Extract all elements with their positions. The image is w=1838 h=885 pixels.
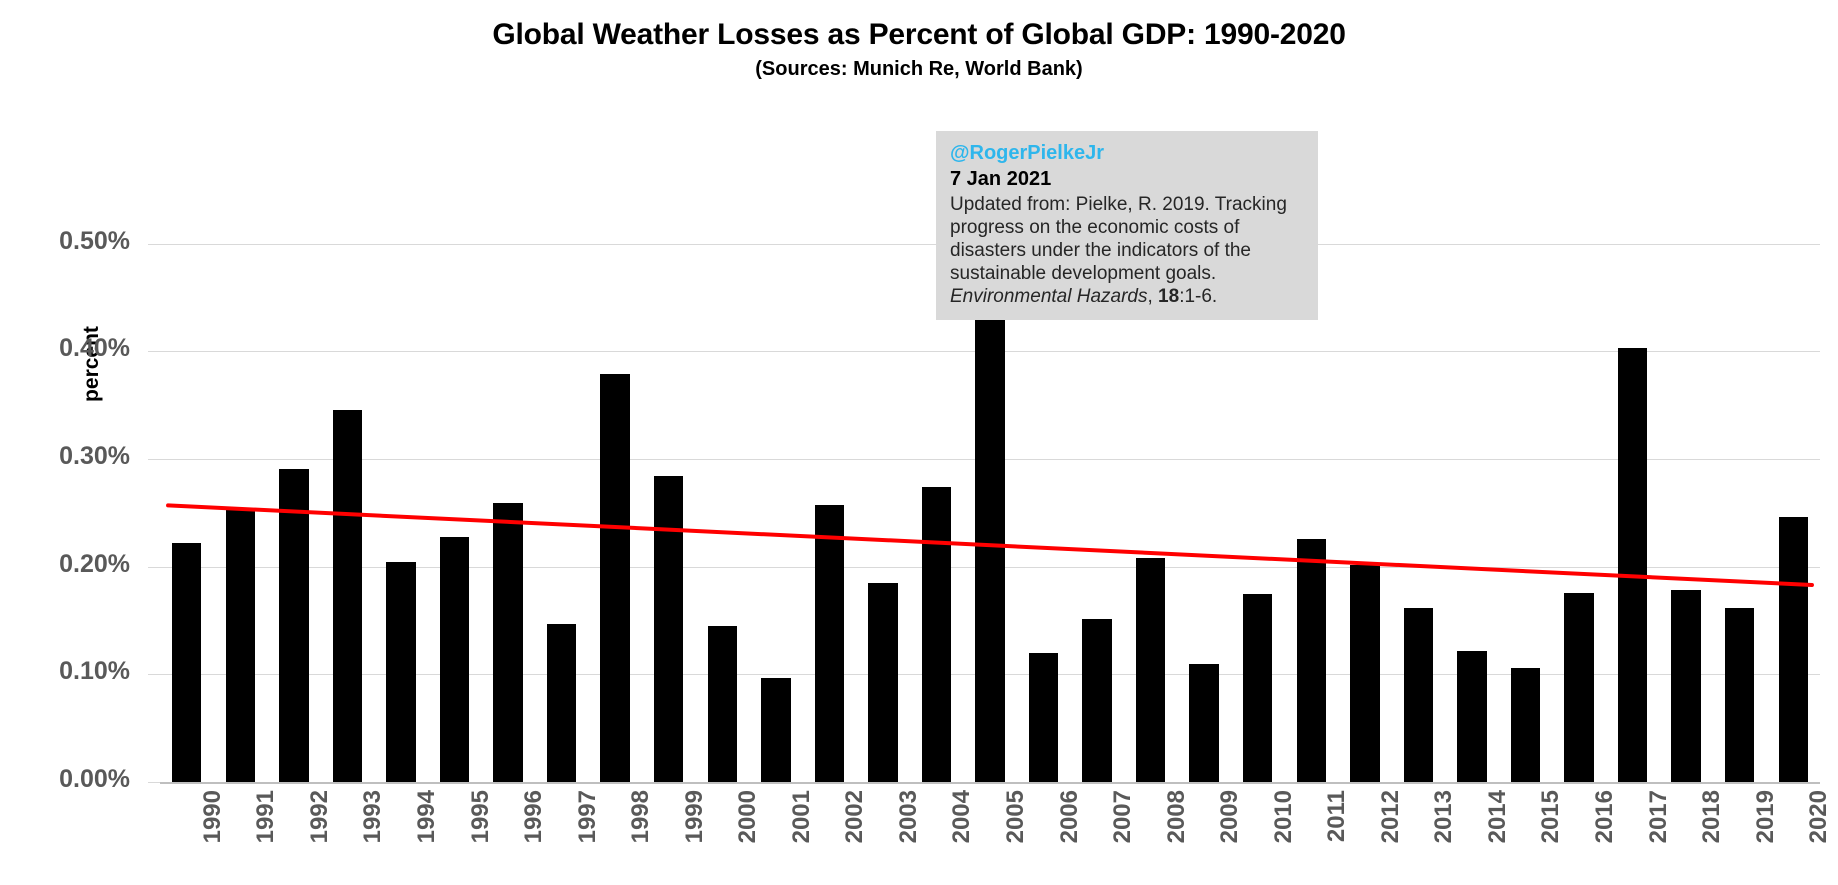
annotation-handle: @RogerPielkeJr — [950, 141, 1304, 166]
x-tick-label: 2014 — [1484, 790, 1512, 843]
x-tick-label: 1998 — [627, 790, 655, 843]
x-axis-line — [160, 782, 1820, 784]
bar — [226, 509, 255, 782]
x-tick-label: 2009 — [1216, 790, 1244, 843]
y-tick-mark — [148, 782, 160, 783]
bar — [708, 626, 737, 782]
y-tick-mark — [148, 567, 160, 568]
annotation-box: @RogerPielkeJr 7 Jan 2021 Updated from: … — [936, 131, 1318, 320]
citation-pages: :1-6. — [1179, 286, 1217, 307]
page-title: Global Weather Losses as Percent of Glob… — [0, 18, 1838, 52]
x-tick-label: 2006 — [1056, 790, 1084, 843]
bar — [1350, 565, 1379, 782]
y-tick-label: 0.40% — [0, 334, 130, 363]
bar — [815, 505, 844, 782]
bar — [333, 410, 362, 782]
bar — [1243, 594, 1272, 782]
citation-journal: Environmental Hazards — [950, 286, 1147, 307]
bar — [386, 562, 415, 782]
y-tick-mark — [148, 674, 160, 675]
x-tick-label: 1995 — [467, 790, 495, 843]
x-tick-label: 1992 — [306, 790, 334, 843]
y-tick-mark — [148, 244, 160, 245]
bar — [1029, 653, 1058, 782]
x-tick-label: 1999 — [681, 790, 709, 843]
x-tick-label: 1994 — [413, 790, 441, 843]
bar — [1189, 664, 1218, 782]
bar — [547, 624, 576, 782]
chart-subtitle: (Sources: Munich Re, World Bank) — [0, 56, 1838, 82]
bar — [1136, 558, 1165, 782]
bar — [922, 487, 951, 782]
citation-separator: , — [1147, 286, 1158, 307]
bar — [1618, 348, 1647, 782]
x-tick-label: 1991 — [252, 790, 280, 843]
x-tick-label: 1997 — [574, 790, 602, 843]
x-tick-label: 2018 — [1698, 790, 1726, 843]
y-tick-mark — [148, 351, 160, 352]
bar — [1564, 593, 1593, 782]
bar — [868, 583, 897, 782]
bar — [1082, 619, 1111, 782]
annotation-citation: Updated from: Pielke, R. 2019. Tracking … — [950, 193, 1304, 308]
x-tick-label: 2000 — [734, 790, 762, 843]
bar — [493, 503, 522, 782]
x-tick-label: 1990 — [199, 790, 227, 843]
y-tick-mark — [148, 459, 160, 460]
y-tick-label: 0.00% — [0, 765, 130, 794]
chart-title-block: Global Weather Losses as Percent of Glob… — [0, 18, 1838, 82]
annotation-date: 7 Jan 2021 — [950, 166, 1304, 192]
bar — [1779, 517, 1808, 782]
bar — [654, 476, 683, 782]
bar — [1725, 608, 1754, 782]
x-tick-label: 1996 — [520, 790, 548, 843]
bar — [600, 374, 629, 782]
y-tick-label: 0.20% — [0, 550, 130, 579]
chart-container: Global Weather Losses as Percent of Glob… — [0, 0, 1838, 885]
bar — [1457, 651, 1486, 782]
bar — [1404, 608, 1433, 782]
x-tick-label: 2004 — [948, 790, 976, 843]
x-tick-label: 2007 — [1109, 790, 1137, 843]
citation-volume: 18 — [1158, 286, 1179, 307]
x-tick-label: 2003 — [895, 790, 923, 843]
x-tick-label: 2016 — [1591, 790, 1619, 843]
bar — [1671, 590, 1700, 782]
y-tick-label: 0.10% — [0, 657, 130, 686]
x-tick-label: 2013 — [1430, 790, 1458, 843]
x-tick-label: 2019 — [1752, 790, 1780, 843]
citation-prefix: Updated from: Pielke, R. 2019. Tracking … — [950, 194, 1287, 284]
x-tick-label: 2020 — [1805, 790, 1833, 843]
y-tick-label: 0.50% — [0, 227, 130, 256]
bar — [279, 469, 308, 782]
bar — [440, 537, 469, 782]
x-tick-label: 2001 — [788, 790, 816, 843]
bar — [172, 543, 201, 782]
x-tick-label: 2012 — [1377, 790, 1405, 843]
x-tick-label: 2011 — [1323, 790, 1351, 842]
x-tick-label: 1993 — [359, 790, 387, 843]
bar — [975, 265, 1004, 782]
x-tick-label: 2010 — [1270, 790, 1298, 843]
bar — [1511, 668, 1540, 782]
x-tick-label: 2002 — [841, 790, 869, 843]
bar — [761, 678, 790, 782]
bar — [1297, 539, 1326, 782]
x-tick-label: 2015 — [1537, 790, 1565, 843]
y-axis-title: percent — [80, 294, 104, 434]
x-tick-label: 2005 — [1002, 790, 1030, 843]
x-tick-label: 2017 — [1645, 790, 1673, 843]
y-tick-label: 0.30% — [0, 442, 130, 471]
x-tick-label: 2008 — [1163, 790, 1191, 843]
